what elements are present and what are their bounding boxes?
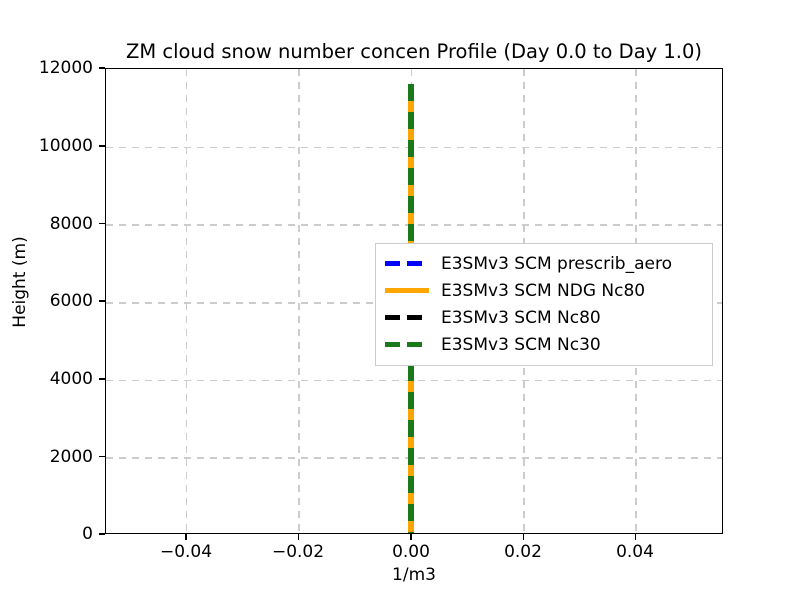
legend-item-prescrib-aero[interactable]: E3SMv3 SCM prescrib_aero (385, 250, 703, 277)
gridline-y-2000 (106, 457, 722, 459)
gridline-x-neg0.02 (298, 69, 300, 533)
tick-y-6000 (99, 300, 105, 302)
tick-y-2000 (99, 456, 105, 458)
legend-item-nc80[interactable]: E3SMv3 SCM Nc80 (385, 304, 703, 331)
ticklabel-y-2000: 2000 (0, 447, 93, 467)
gridline-x-neg0.04 (186, 69, 188, 533)
legend-label-ndg-nc80: E3SMv3 SCM NDG Nc80 (441, 281, 645, 301)
tick-y-10000 (99, 145, 105, 147)
ticklabel-x-0.00: 0.00 (392, 542, 430, 562)
gridline-y-10000 (106, 147, 722, 149)
tick-x-0.02 (523, 534, 525, 540)
ticklabel-y-10000: 10000 (0, 136, 93, 156)
tick-y-12000 (99, 67, 105, 69)
ticklabel-x-neg0.02: −0.02 (272, 542, 324, 562)
legend-item-ndg-nc80[interactable]: E3SMv3 SCM NDG Nc80 (385, 277, 703, 304)
x-axis-label: 1/m3 (105, 565, 723, 585)
y-axis-label: Height (m) (10, 222, 30, 342)
tick-y-8000 (99, 223, 105, 225)
tick-x-neg0.02 (298, 534, 300, 540)
tick-x-neg0.04 (185, 534, 187, 540)
legend-swatch-nc80 (385, 315, 429, 320)
tick-x-0.00 (410, 534, 412, 540)
legend-swatch-ndg-nc80 (385, 288, 429, 293)
ticklabel-y-0: 0 (0, 524, 93, 544)
tick-x-0.04 (635, 534, 637, 540)
ticklabel-x-0.04: 0.04 (616, 542, 654, 562)
legend-swatch-prescrib-aero (385, 261, 429, 266)
legend-label-nc80: E3SMv3 SCM Nc80 (441, 308, 601, 328)
chart-title: ZM cloud snow number concen Profile (Day… (105, 40, 723, 63)
legend-box[interactable]: E3SMv3 SCM prescrib_aero E3SMv3 SCM NDG … (375, 243, 713, 366)
ticklabel-y-12000: 12000 (0, 58, 93, 78)
ticklabel-x-0.02: 0.02 (504, 542, 542, 562)
gridline-y-4000 (106, 380, 722, 382)
legend-label-nc30: E3SMv3 SCM Nc30 (441, 335, 601, 355)
ticklabel-y-4000: 4000 (0, 369, 93, 389)
tick-y-4000 (99, 378, 105, 380)
figure-canvas: ZM cloud snow number concen Profile (Day… (0, 0, 800, 600)
legend-swatch-nc30 (385, 342, 429, 347)
ticklabel-x-neg0.04: −0.04 (160, 542, 212, 562)
tick-y-0 (99, 533, 105, 535)
legend-item-nc30[interactable]: E3SMv3 SCM Nc30 (385, 331, 703, 358)
legend-label-prescrib-aero: E3SMv3 SCM prescrib_aero (441, 254, 672, 274)
gridline-y-8000 (106, 224, 722, 226)
